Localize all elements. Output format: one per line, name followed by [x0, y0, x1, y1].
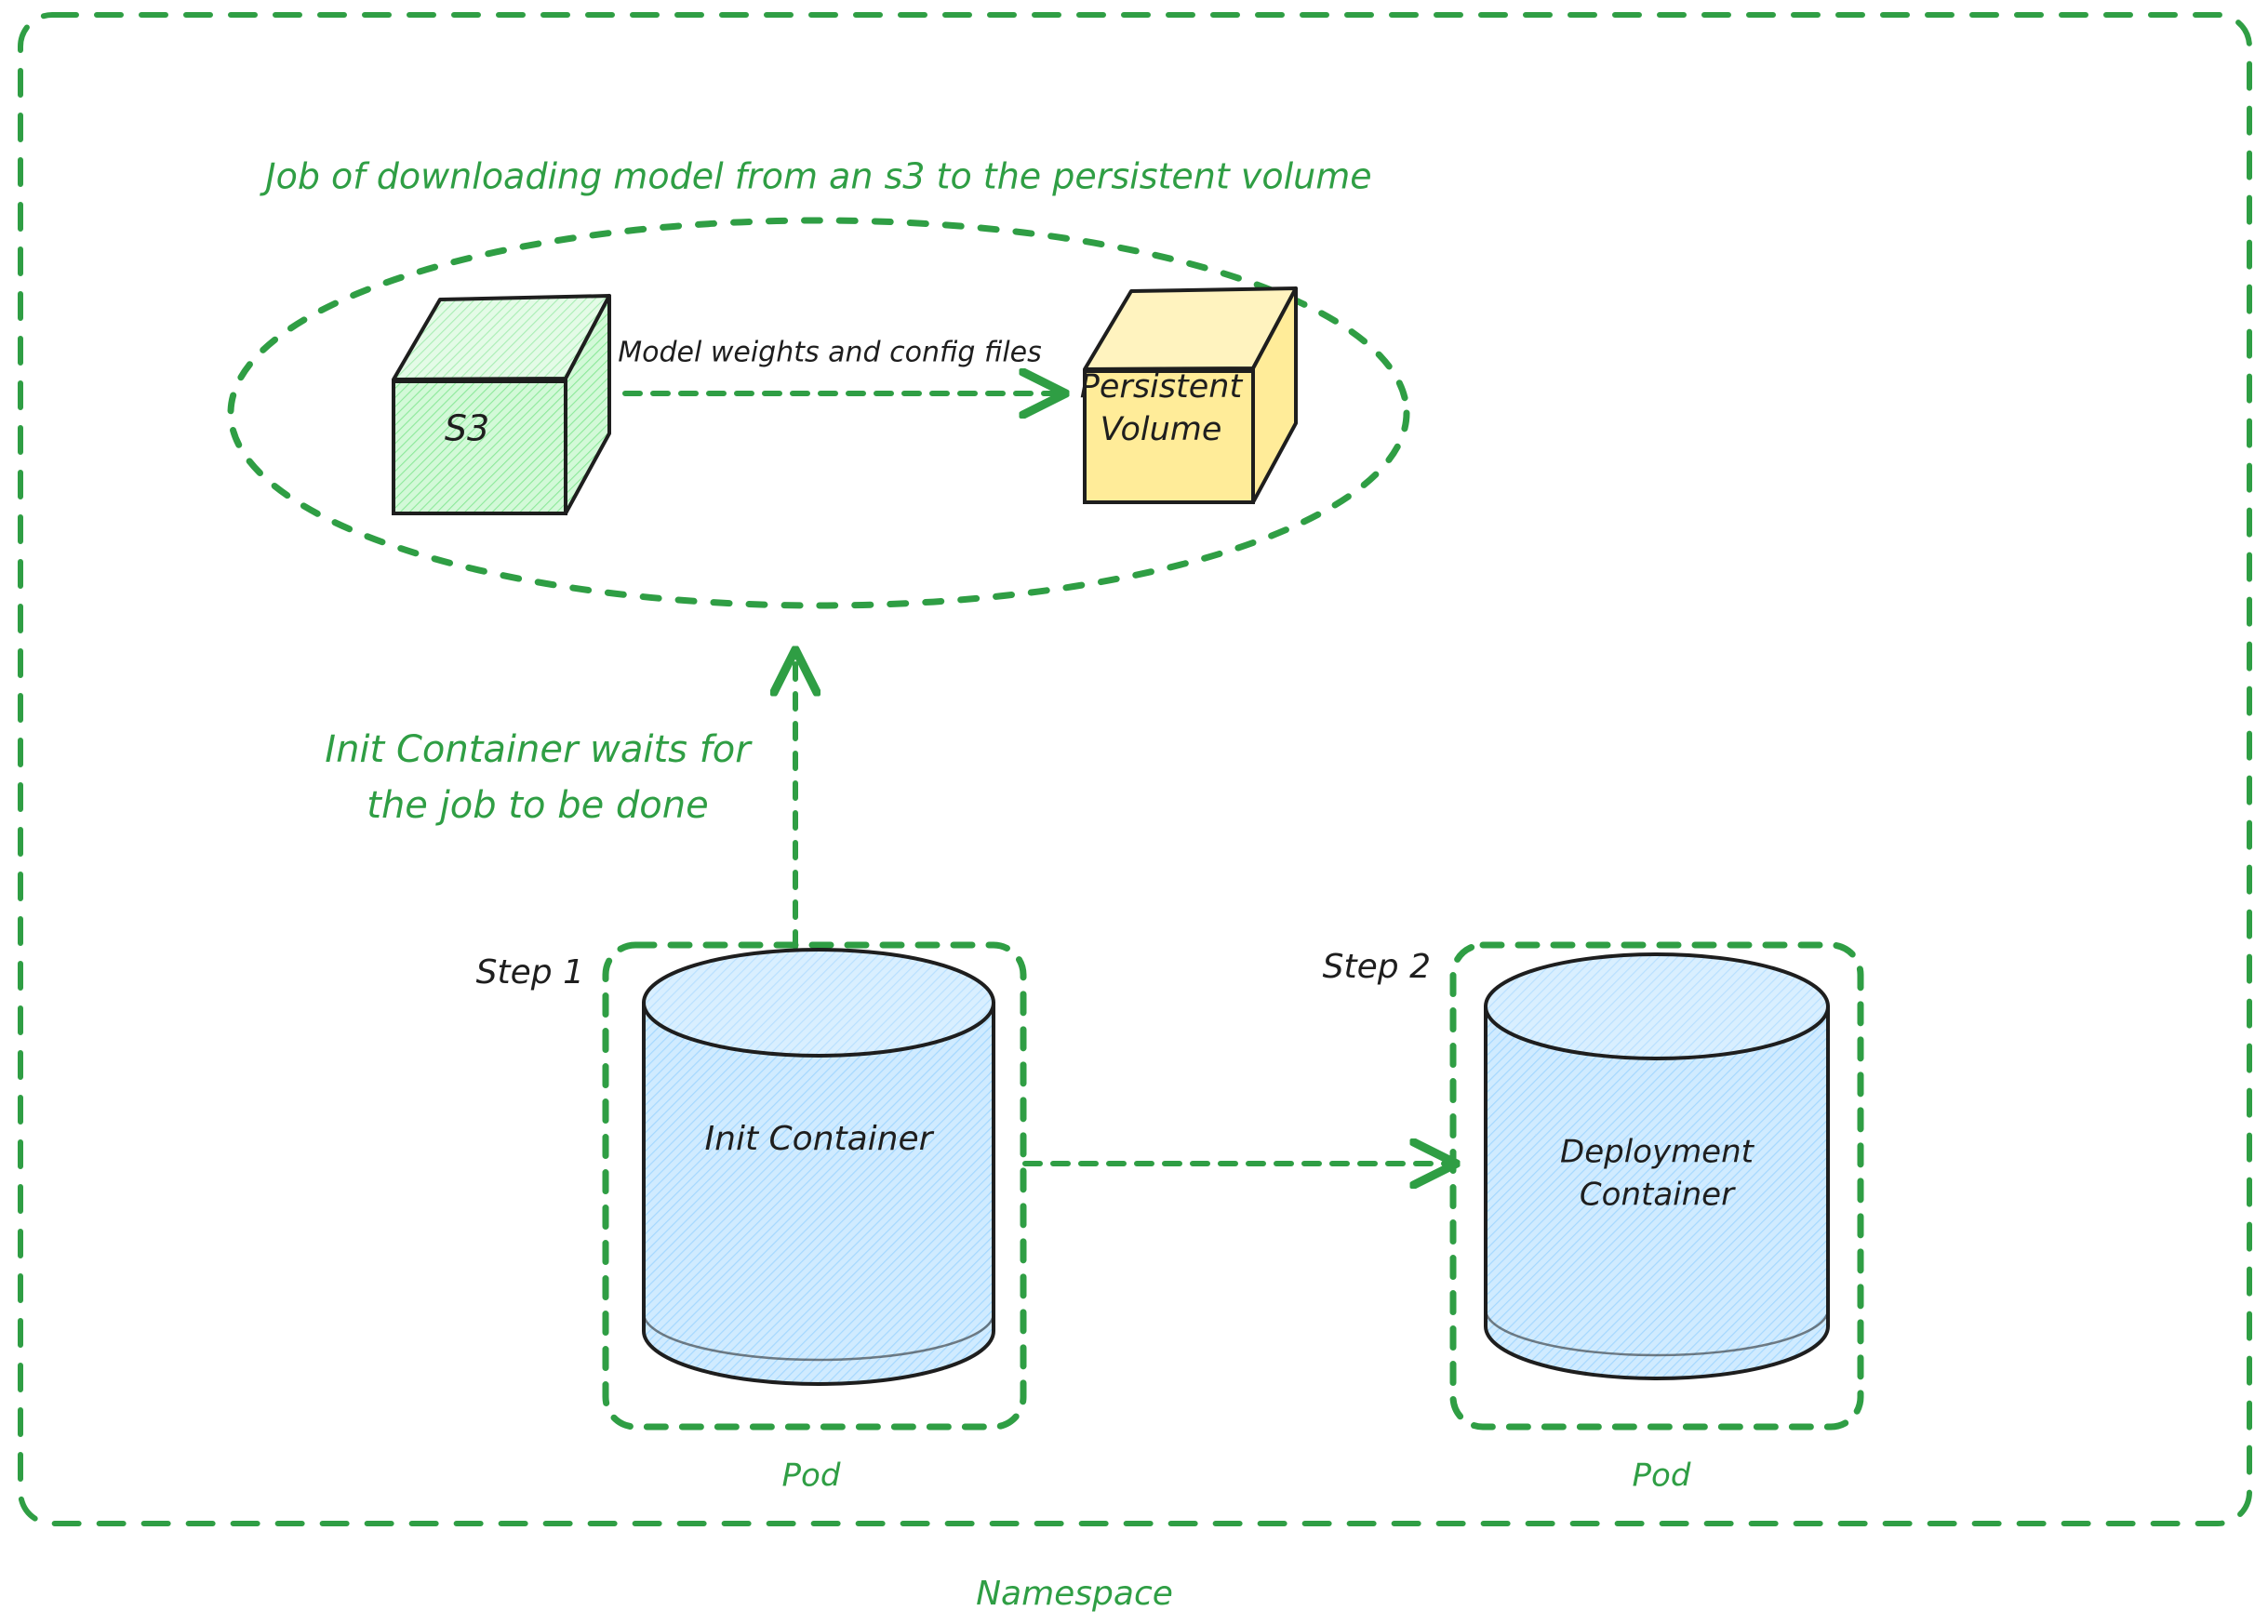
pod-label-1: Pod	[782, 1458, 841, 1495]
init-container-cylinder	[644, 950, 994, 1384]
diagram-svg: Job of downloading model from an s3 to t…	[0, 0, 2268, 1624]
step-2-label: Step 2	[1323, 948, 1431, 986]
pod-label-2: Pod	[1633, 1458, 1691, 1495]
deployment-container-label-line2: Container	[1580, 1177, 1736, 1214]
wait-arrow-label-line1: Init Container waits for	[325, 728, 753, 771]
persistent-volume-label-line2: Volume	[1101, 411, 1222, 448]
init-container-label: Init Container	[705, 1120, 935, 1158]
step-1-label: Step 1	[476, 953, 584, 992]
persistent-volume-label-line1: Persistent	[1080, 368, 1244, 406]
s3-cube	[394, 296, 609, 513]
transfer-arrow-label: Model weights and config files	[618, 337, 1042, 369]
s3-label: S3	[445, 408, 489, 449]
wait-arrow-label-line2: the job to be done	[367, 784, 708, 827]
diagram-canvas: Job of downloading model from an s3 to t…	[0, 0, 2268, 1624]
deployment-container-label-line1: Deployment	[1560, 1134, 1755, 1171]
job-title-label: Job of downloading model from an s3 to t…	[259, 156, 1371, 197]
namespace-label: Namespace	[976, 1575, 1173, 1613]
